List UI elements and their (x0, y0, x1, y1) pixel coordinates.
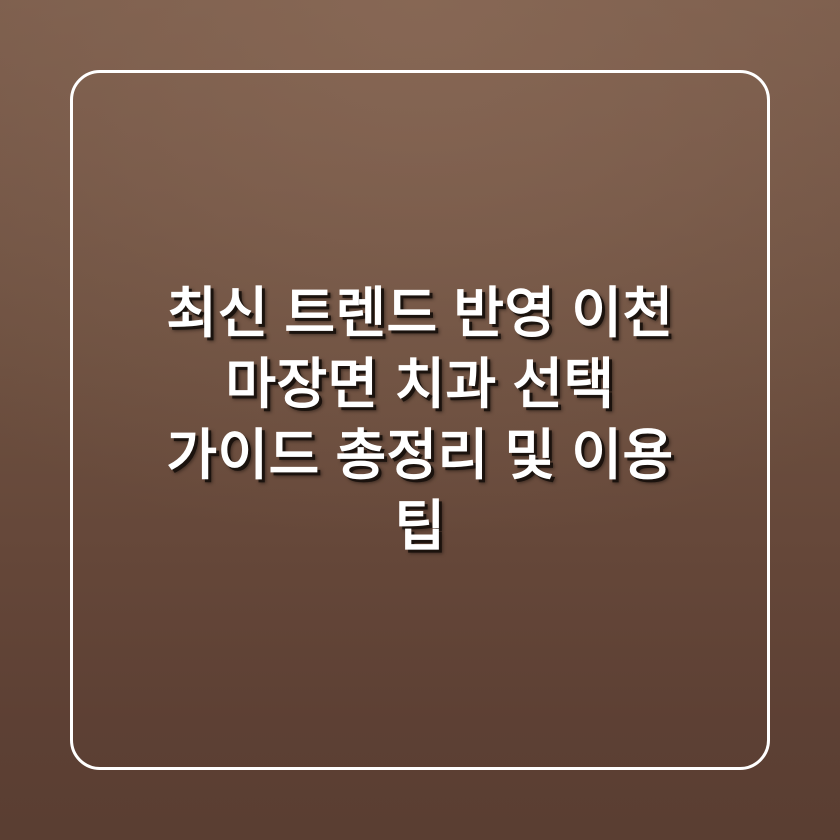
headline-container: 최신 트렌드 반영 이천 마장면 치과 선택 가이드 총정리 및 이용 팁 (0, 0, 840, 840)
headline-line-2: 마장면 치과 선택 (108, 349, 732, 420)
page-title: 최신 트렌드 반영 이천 마장면 치과 선택 가이드 총정리 및 이용 팁 (108, 278, 732, 562)
thumbnail-card: 최신 트렌드 반영 이천 마장면 치과 선택 가이드 총정리 및 이용 팁 (0, 0, 840, 840)
headline-line-4: 팁 (108, 491, 732, 562)
headline-line-3: 가이드 총정리 및 이용 (108, 420, 732, 491)
headline-line-1: 최신 트렌드 반영 이천 (108, 278, 732, 349)
